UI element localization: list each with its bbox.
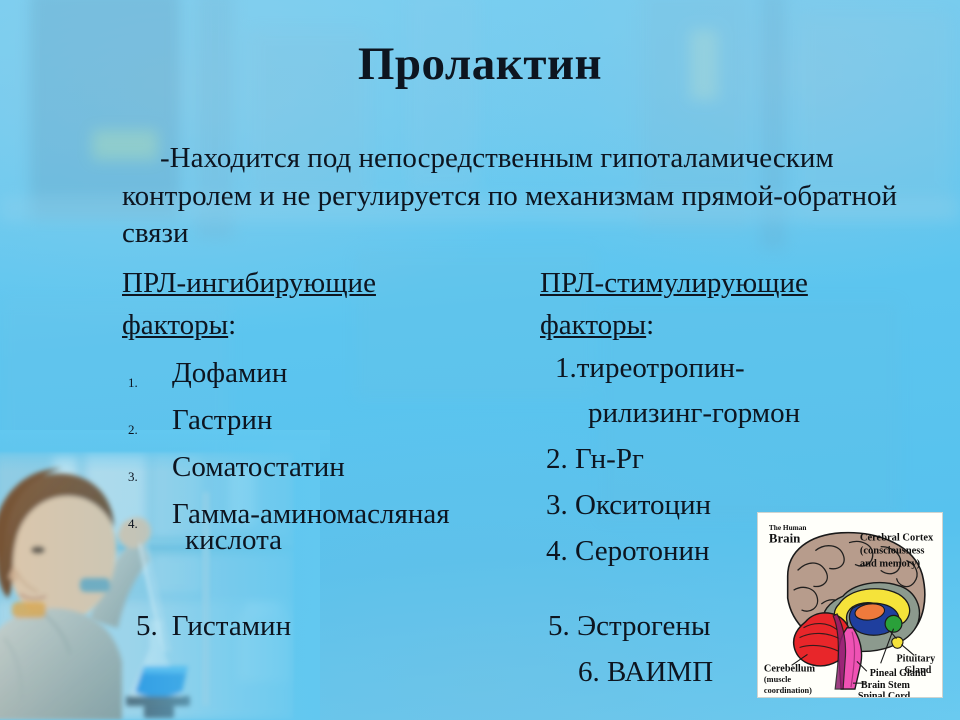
intro-paragraph: -Находится под непосредственным гипотала… — [122, 140, 922, 253]
list-marker: 5. — [136, 610, 158, 642]
label-cerebral-cortex: Cerebral Cortex — [860, 533, 934, 544]
brain-diagram-svg: The Human Brain Cerebral Cortex (conscio… — [758, 513, 942, 697]
label-cortex-line2: (consciousness — [860, 546, 925, 557]
slide-title: Пролактин — [0, 40, 960, 89]
brain-caption-small: The Human — [769, 523, 807, 532]
label-cortex-line3: and memory) — [860, 558, 921, 569]
list-marker: 1. — [128, 376, 138, 389]
right-heading-colon: : — [646, 309, 654, 341]
list-item-continuation: кислота — [185, 524, 282, 557]
stimulating-item-5: 5. Эстрогены — [548, 610, 710, 643]
brain-caption-big: Brain — [769, 532, 800, 546]
label-cerebellum-line2: (muscle — [764, 675, 792, 684]
label-pineal-gland: Pineal Gland — [870, 668, 927, 679]
list-item: 4. Гамма-аминомасляная — [122, 491, 522, 538]
list-item-label: Гастрин — [172, 397, 272, 444]
left-heading-line2: факторы — [122, 309, 228, 341]
right-column-heading: ПРЛ-стимулирующие факторы: — [540, 262, 808, 347]
stimulating-item-4: 4. Серотонин — [546, 535, 710, 568]
right-heading-line2: факторы — [540, 309, 646, 341]
left-heading-line1: ПРЛ-ингибирующие — [122, 267, 376, 299]
label-cerebellum-line3: coordination) — [764, 686, 812, 695]
stimulating-item-3: 3. Окситоцин — [546, 489, 711, 522]
list-item: 2. Гастрин — [122, 397, 522, 444]
label-pituitary-line1: Pituitary — [896, 653, 935, 664]
slide-canvas: Пролактин -Находится под непосредственны… — [0, 0, 960, 720]
stimulating-item-1-continuation: рилизинг-гормон — [588, 397, 800, 430]
list-item-label: Дофамин — [172, 350, 287, 397]
label-cerebellum: Cerebellum — [764, 663, 816, 674]
human-brain-diagram: The Human Brain Cerebral Cortex (conscio… — [757, 512, 943, 698]
list-item-label: Гистамин — [172, 610, 291, 642]
list-marker: 2. — [128, 423, 138, 436]
label-brain-stem: Brain Stem — [861, 680, 911, 691]
stimulating-item-6: 6. ВАИМП — [578, 656, 713, 689]
list-marker: 4. — [128, 517, 138, 530]
list-item-label: Соматостатин — [172, 444, 345, 491]
list-marker: 3. — [128, 470, 138, 483]
list-item-histamine: 5.Гистамин — [136, 610, 291, 643]
left-heading-colon: : — [228, 309, 236, 341]
stimulating-item-2: 2. Гн-Рг — [546, 443, 644, 476]
list-item: 3. Соматостатин — [122, 444, 522, 491]
list-item: 1. Дофамин — [122, 350, 522, 397]
right-heading-line1: ПРЛ-стимулирующие — [540, 267, 808, 299]
inhibiting-factors-list: 1. Дофамин 2. Гастрин 3. Соматостатин 4.… — [122, 350, 522, 538]
label-spinal-cord: Spinal Cord — [858, 691, 911, 697]
stimulating-item-1: 1.тиреотропин- — [555, 352, 745, 385]
left-column-heading: ПРЛ-ингибирующие факторы: — [122, 262, 376, 347]
